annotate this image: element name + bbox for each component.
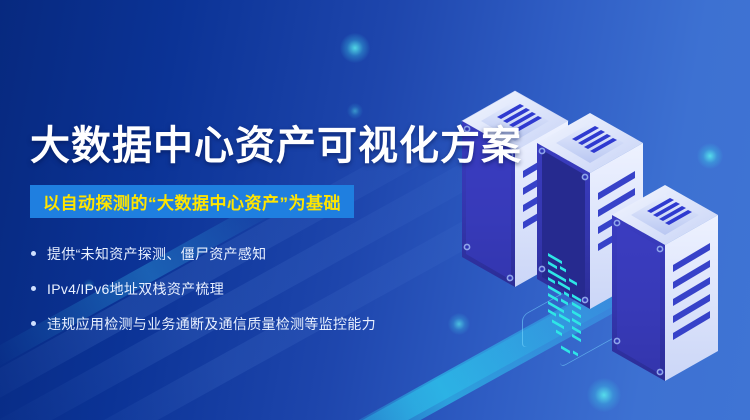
list-item-label: IPv4/IPv6地址双栈资产梳理	[47, 279, 224, 299]
feature-bullet-list: 提供“未知资产探测、僵尸资产感知 IPv4/IPv6地址双栈资产梳理 违规应用检…	[31, 240, 376, 345]
list-item-label: 违规应用检测与业务通断及通信质量检测等监控能力	[47, 314, 376, 334]
page-title: 大数据中心资产可视化方案	[30, 126, 522, 166]
list-item-label: 提供“未知资产探测、僵尸资产感知	[47, 244, 266, 264]
isometric-server-illustration	[425, 38, 750, 420]
subtitle-highlight-bar: 以自动探测的“大数据中心资产”为基础	[30, 185, 354, 218]
marketing-banner: 大数据中心资产可视化方案 以自动探测的“大数据中心资产”为基础 提供“未知资产探…	[0, 0, 750, 420]
list-item: IPv4/IPv6地址双栈资产梳理	[31, 275, 376, 302]
list-item: 提供“未知资产探测、僵尸资产感知	[31, 240, 376, 267]
subtitle-text: 以自动探测的“大数据中心资产”为基础	[43, 189, 341, 214]
bullet-dot-icon	[31, 286, 36, 291]
glow-dot	[347, 103, 363, 119]
list-item: 违规应用检测与业务通断及通信质量检测等监控能力	[31, 310, 376, 337]
glow-dot	[340, 33, 370, 63]
server-rack-right	[612, 185, 718, 381]
server-racks-svg	[425, 38, 750, 420]
bullet-dot-icon	[31, 251, 36, 256]
bullet-dot-icon	[31, 321, 36, 326]
